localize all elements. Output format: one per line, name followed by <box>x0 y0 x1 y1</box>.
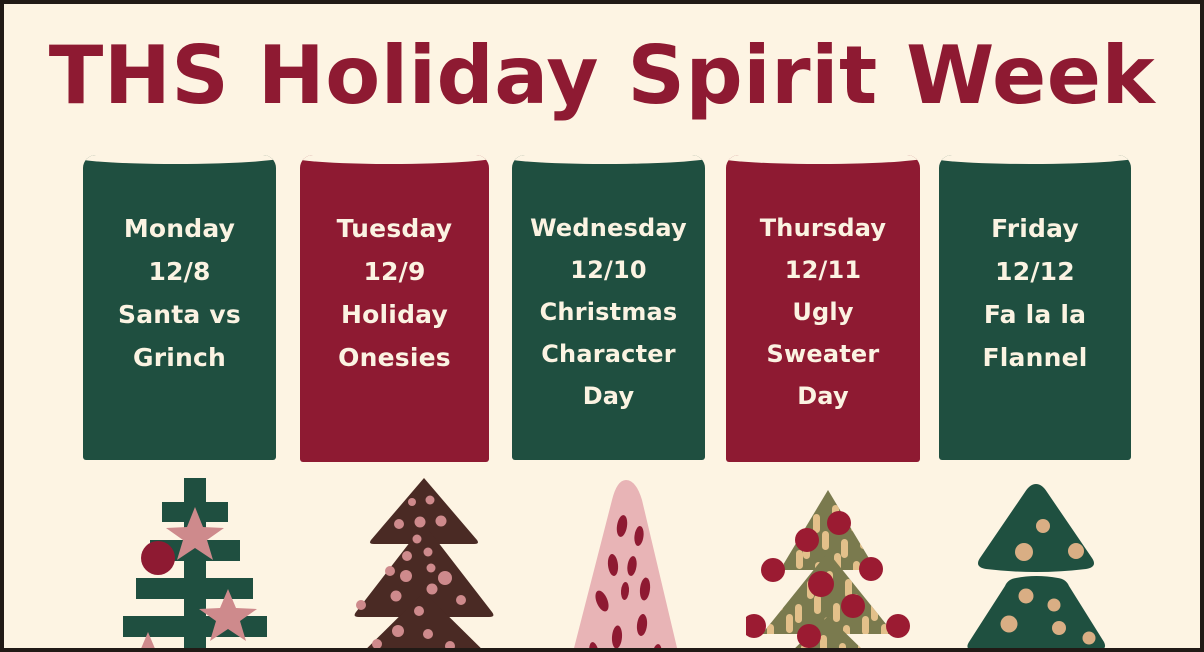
theme-line: Ugly <box>792 291 853 333</box>
page-title: THS Holiday Spirit Week <box>4 36 1200 116</box>
theme-line: Character <box>541 333 676 375</box>
theme-line: Day <box>583 375 635 417</box>
day-card-thursday: Thursday 12/11 Ugly Sweater Day <box>726 155 920 462</box>
day-date: 12/10 <box>570 249 647 291</box>
theme-line: Holiday <box>341 293 448 336</box>
theme-line: Fa la la <box>984 293 1086 336</box>
day-card-friday: Friday 12/12 Fa la la Flannel <box>939 155 1131 460</box>
day-name: Thursday <box>760 207 887 249</box>
olive-needle-tree-icon <box>746 474 931 652</box>
day-date: 12/8 <box>148 250 210 293</box>
day-card-wednesday: Wednesday 12/10 Christmas Character Day <box>512 155 705 460</box>
pink-cone-tree-icon <box>556 474 706 652</box>
day-name: Friday <box>991 207 1079 250</box>
striped-ladder-tree-icon <box>100 474 290 652</box>
day-name: Monday <box>124 207 235 250</box>
split-green-tree-icon <box>954 474 1119 652</box>
day-name: Tuesday <box>337 207 453 250</box>
theme-line: Sweater <box>767 333 880 375</box>
day-date: 12/11 <box>785 249 862 291</box>
holiday-spirit-week-poster: THS Holiday Spirit Week Monday 12/8 Sant… <box>0 0 1204 652</box>
day-name: Wednesday <box>530 207 687 249</box>
dotted-triangle-tree-icon <box>334 474 514 652</box>
day-cards-row: Monday 12/8 Santa vs Grinch Tuesday 12/9… <box>4 155 1200 465</box>
theme-line: Christmas <box>540 291 678 333</box>
day-date: 12/12 <box>995 250 1075 293</box>
theme-line: Grinch <box>133 336 226 379</box>
tree-decorations <box>4 474 1204 652</box>
theme-line: Onesies <box>338 336 451 379</box>
theme-line: Santa vs <box>118 293 241 336</box>
theme-line: Day <box>797 375 849 417</box>
day-card-tuesday: Tuesday 12/9 Holiday Onesies <box>300 155 489 462</box>
theme-line: Flannel <box>982 336 1087 379</box>
day-card-monday: Monday 12/8 Santa vs Grinch <box>83 155 276 460</box>
day-date: 12/9 <box>363 250 425 293</box>
